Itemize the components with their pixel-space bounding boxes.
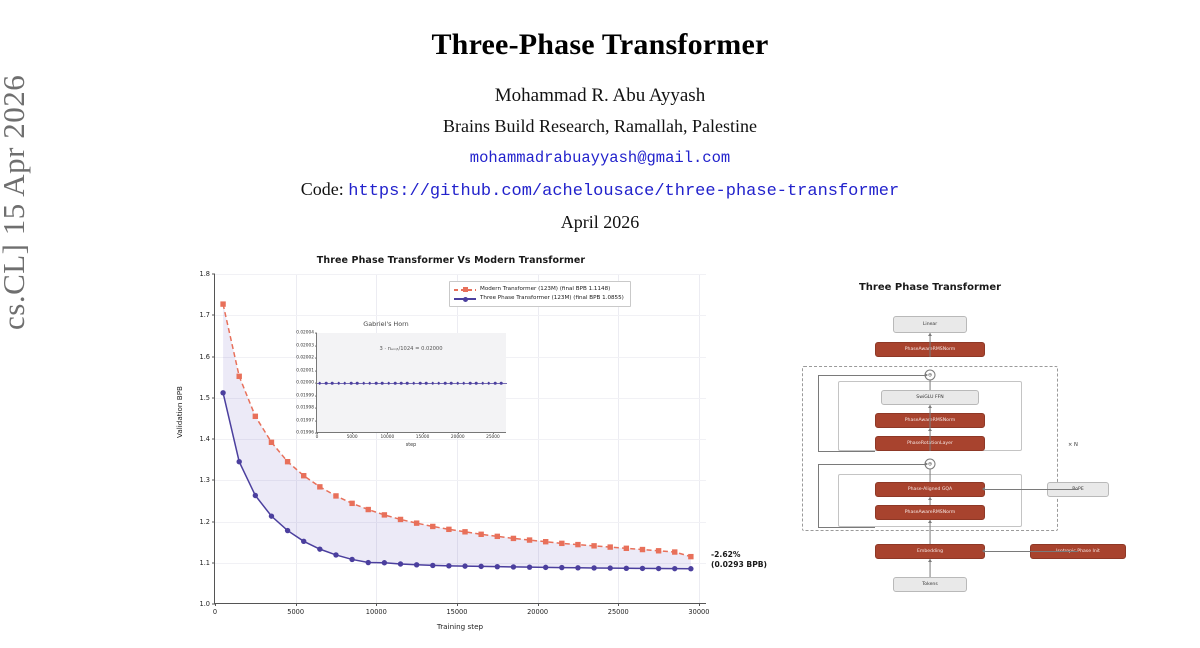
delta-percent: -2.62% — [711, 550, 767, 560]
inset-y-tick-mark — [315, 370, 317, 371]
y-tick-label: 1.0 — [200, 600, 211, 608]
data-point — [478, 564, 483, 569]
inset-data-point — [437, 382, 440, 385]
legend-item-modern: Modern Transformer (123M) (final BPB 1.1… — [454, 285, 624, 294]
inset-annotation: 3 · nₑₘᵦ/1024 = 0.02000 — [316, 346, 506, 352]
training-curve-chart: Three Phase Transformer Vs Modern Transf… — [168, 250, 734, 648]
inset-data-point — [488, 382, 491, 385]
data-point — [640, 566, 645, 571]
inset-data-point — [463, 382, 466, 385]
inset-y-tick-label: 0.01996 — [296, 431, 314, 436]
arch-node-label: PhaseAwareRMSNorm — [905, 510, 955, 515]
data-point — [608, 544, 613, 549]
x-tick-label: 25000 — [608, 608, 629, 616]
data-point — [237, 374, 242, 379]
arch-node-ffn[interactable]: SwiGLU FFN — [881, 390, 979, 405]
data-point — [349, 501, 354, 506]
arch-node-label: Embedding — [917, 549, 943, 554]
publication-date: April 2026 — [0, 212, 1200, 233]
data-point — [253, 493, 258, 498]
arch-arrow — [930, 405, 931, 428]
data-point — [575, 542, 580, 547]
inset-data-point — [425, 382, 428, 385]
arrow-head-icon — [982, 487, 985, 491]
inset-data-point — [331, 382, 334, 385]
inset-data-point — [406, 382, 409, 385]
data-point — [543, 539, 548, 544]
data-point — [301, 473, 306, 478]
data-point — [382, 512, 387, 517]
data-point — [269, 513, 274, 518]
data-point — [543, 565, 548, 570]
figure-area: Three Phase Transformer Vs Modern Transf… — [0, 250, 1200, 648]
inset-data-point — [412, 382, 415, 385]
arrow-head-icon — [925, 373, 928, 377]
arch-node-gqa[interactable]: Phase-Aligned GQA — [875, 482, 985, 497]
inset-data-point — [456, 382, 459, 385]
inset-data-point — [319, 382, 322, 385]
data-point — [672, 549, 677, 554]
data-point — [414, 562, 419, 567]
inset-x-tick-mark — [423, 432, 424, 434]
x-tick-label: 20000 — [527, 608, 548, 616]
email-line: mohammadrabuayyash@gmail.com — [0, 149, 1200, 167]
data-point — [366, 507, 371, 512]
residual-connection — [818, 375, 819, 451]
data-point — [608, 565, 613, 570]
data-point — [430, 563, 435, 568]
data-point — [559, 565, 564, 570]
data-point — [640, 547, 645, 552]
code-line: Code: https://github.com/achelousace/thr… — [0, 179, 1200, 201]
x-tick-label: 15000 — [446, 608, 467, 616]
inset-data-point — [337, 382, 340, 385]
gabriels-horn-inset-chart: Gabriel's Horn 0.020040.020030.020020.02… — [260, 320, 512, 454]
residual-connection — [818, 464, 925, 465]
chart-title: Three Phase Transformer Vs Modern Transf… — [168, 255, 734, 266]
inset-x-axis-label: step — [316, 443, 506, 448]
arrow-head-icon — [982, 549, 985, 553]
data-point — [511, 536, 516, 541]
arch-arrow — [985, 551, 1078, 552]
data-point — [220, 390, 225, 395]
data-point — [301, 539, 306, 544]
chart-legend: Modern Transformer (123M) (final BPB 1.1… — [449, 281, 631, 307]
inset-data-point — [356, 382, 359, 385]
inset-y-tick-label: 0.01998 — [296, 406, 314, 411]
residual-connection — [818, 451, 875, 452]
data-point — [656, 566, 661, 571]
data-point — [333, 493, 338, 498]
data-point — [349, 557, 354, 562]
inset-y-tick-label: 0.02004 — [296, 331, 314, 336]
arrow-head-icon — [928, 428, 932, 431]
arch-node-embedding[interactable]: Embedding — [875, 544, 985, 559]
data-point — [527, 564, 532, 569]
inset-y-tick-mark — [315, 420, 317, 421]
legend-swatch-three-phase-icon — [454, 295, 476, 302]
y-tick-label: 1.6 — [200, 353, 211, 361]
y-tick-label: 1.2 — [200, 518, 211, 526]
inset-data-point — [500, 382, 503, 385]
arch-arrow — [985, 489, 1078, 490]
data-point — [220, 301, 225, 306]
inset-data-point — [362, 382, 365, 385]
inset-x-tick-label: 25000 — [486, 435, 500, 440]
data-point — [591, 543, 596, 548]
inset-data-point — [469, 382, 472, 385]
residual-connection — [818, 527, 875, 528]
delta-annotation: -2.62% (0.0293 BPB) — [711, 550, 767, 571]
arch-node-label: Tokens — [922, 582, 937, 587]
y-tick-label: 1.1 — [200, 559, 211, 567]
inset-data-point — [394, 382, 397, 385]
inset-y-tick-label: 0.01999 — [296, 393, 314, 398]
arrow-head-icon — [928, 333, 932, 336]
data-point — [430, 524, 435, 529]
arch-arrow — [930, 428, 931, 451]
inset-data-point — [400, 382, 403, 385]
email-link[interactable]: mohammadrabuayyash@gmail.com — [470, 149, 730, 167]
data-point — [672, 566, 677, 571]
data-point — [591, 565, 596, 570]
data-point — [688, 566, 693, 571]
x-tick-label: 5000 — [287, 608, 304, 616]
data-point — [366, 560, 371, 565]
inset-y-tick-label: 0.02001 — [296, 368, 314, 373]
page-title: Three-Phase Transformer — [0, 28, 1200, 62]
data-point — [237, 459, 242, 464]
repeat-count-label: × N — [1068, 442, 1078, 448]
arrow-head-icon — [925, 462, 928, 466]
code-label: Code: — [301, 179, 344, 199]
legend-label-modern: Modern Transformer (123M) (final BPB 1.1… — [480, 285, 610, 294]
legend-item-three-phase: Three Phase Transformer (123M) (final BP… — [454, 294, 624, 303]
author-name: Mohammad R. Abu Ayyash — [0, 85, 1200, 107]
data-point — [462, 529, 467, 534]
data-point — [462, 563, 467, 568]
y-tick-label: 1.5 — [200, 394, 211, 402]
affiliation: Brains Build Research, Ramallah, Palesti… — [0, 116, 1200, 137]
inset-data-point — [431, 382, 434, 385]
inset-y-tick-label: 0.02002 — [296, 356, 314, 361]
data-point — [688, 554, 693, 559]
inset-x-tick-label: 5000 — [347, 435, 358, 440]
inset-data-point — [325, 382, 328, 385]
inset-y-tick-mark — [315, 333, 317, 334]
inset-x-tick-mark — [387, 432, 388, 434]
inset-x-tick-mark — [317, 432, 318, 434]
data-point — [624, 546, 629, 551]
arch-arrow — [930, 333, 931, 357]
arch-node-linear[interactable]: Linear — [893, 316, 967, 333]
data-point — [382, 560, 387, 565]
data-point — [285, 459, 290, 464]
x-axis-label: Training step — [214, 622, 706, 631]
arch-node-norm_attn[interactable]: PhaseAwareRMSNorm — [875, 505, 985, 520]
residual-connection — [818, 375, 925, 376]
x-tick-label: 10000 — [366, 608, 387, 616]
arch-node-label: Linear — [923, 322, 937, 327]
y-tick-label: 1.4 — [200, 435, 211, 443]
delta-bpb: (0.0293 BPB) — [711, 560, 767, 570]
inset-data-point — [481, 382, 484, 385]
data-point — [253, 414, 258, 419]
inset-data-point — [450, 382, 453, 385]
data-point — [333, 552, 338, 557]
inset-x-tick-label: 15000 — [416, 435, 430, 440]
inset-x-tick-label: 10000 — [381, 435, 395, 440]
data-point — [317, 546, 322, 551]
inset-data-point — [344, 382, 347, 385]
arrow-head-icon — [928, 497, 932, 500]
inset-y-tick-mark — [315, 395, 317, 396]
inset-data-point — [419, 382, 422, 385]
legend-label-three-phase: Three Phase Transformer (123M) (final BP… — [480, 294, 624, 303]
arch-node-label: Phase-Aligned GQA — [908, 487, 952, 492]
x-tick-label: 0 — [213, 608, 217, 616]
arrow-head-icon — [928, 405, 932, 408]
data-point — [495, 534, 500, 539]
inset-y-tick-label: 0.01997 — [296, 418, 314, 423]
inset-y-tick-mark — [315, 358, 317, 359]
x-tick-label: 30000 — [688, 608, 709, 616]
data-point — [285, 528, 290, 533]
inset-x-tick-mark — [352, 432, 353, 434]
data-point — [446, 563, 451, 568]
inset-x-tick-label: 20000 — [451, 435, 465, 440]
inset-data-point — [369, 382, 372, 385]
y-axis-label: Validation BPB — [175, 386, 184, 438]
data-point — [527, 537, 532, 542]
architecture-title: Three Phase Transformer — [780, 282, 1080, 293]
paper-header: Three-Phase Transformer Mohammad R. Abu … — [0, 0, 1200, 233]
inset-data-point — [494, 382, 497, 385]
data-point — [511, 564, 516, 569]
y-tick-label: 1.7 — [200, 311, 211, 319]
inset-x-tick-label: 0 — [316, 435, 319, 440]
data-point — [575, 565, 580, 570]
data-point — [495, 564, 500, 569]
data-point — [624, 566, 629, 571]
residual-connection — [818, 464, 819, 527]
inset-data-point — [375, 382, 378, 385]
data-point — [446, 527, 451, 532]
arch-arrow — [930, 520, 931, 544]
inset-data-point — [381, 382, 384, 385]
y-tick-label: 1.8 — [200, 270, 211, 278]
data-point — [478, 532, 483, 537]
inset-y-tick-label: 0.02000 — [296, 381, 314, 386]
arch-node-tokens[interactable]: Tokens — [893, 577, 967, 592]
inset-x-tick-mark — [493, 432, 494, 434]
legend-swatch-modern-icon — [454, 286, 476, 293]
data-point — [414, 520, 419, 525]
data-point — [398, 561, 403, 566]
inset-y-tick-mark — [315, 408, 317, 409]
inset-data-point — [444, 382, 447, 385]
inset-data-point — [387, 382, 390, 385]
data-point — [656, 548, 661, 553]
code-url-link[interactable]: https://github.com/achelousace/three-pha… — [348, 182, 899, 201]
arrow-head-icon — [928, 559, 932, 562]
arch-node-label: SwiGLU FFN — [916, 395, 943, 400]
inset-data-point — [475, 382, 478, 385]
inset-x-tick-mark — [458, 432, 459, 434]
y-tick-label: 1.3 — [200, 476, 211, 484]
architecture-diagram: Three Phase Transformer LinearPhaseAware… — [780, 250, 1120, 648]
data-point — [559, 541, 564, 546]
data-point — [398, 517, 403, 522]
data-point — [317, 484, 322, 489]
inset-chart-title: Gabriel's Horn — [260, 320, 512, 328]
inset-data-point — [350, 382, 353, 385]
arrow-head-icon — [928, 520, 932, 523]
inset-y-tick-label: 0.02003 — [296, 343, 314, 348]
